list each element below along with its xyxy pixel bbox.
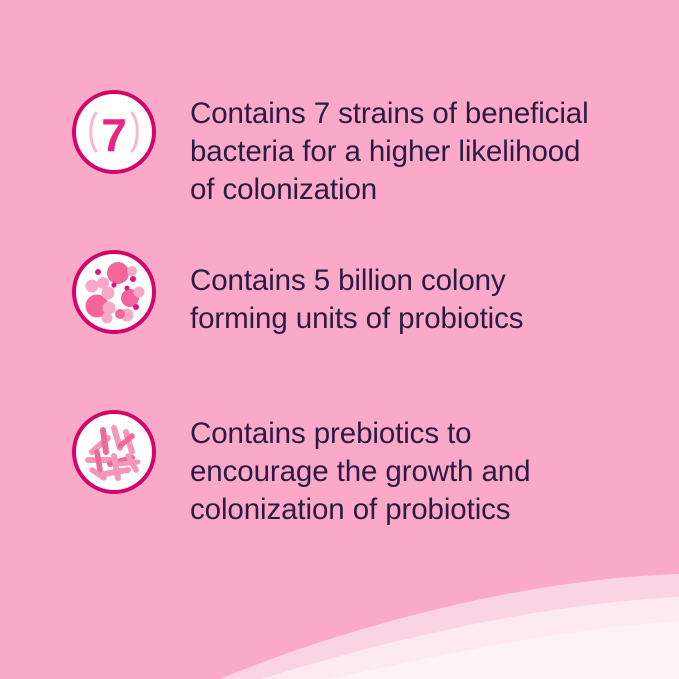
colony-forming-units-icon <box>70 248 158 336</box>
probiotic-benefits-infographic: 7 Contains 7 strains of beneficial bacte… <box>0 0 679 679</box>
seven-strains-icon: 7 <box>70 88 158 176</box>
feature-text-prebiotics: Contains prebiotics to encourage the gro… <box>190 408 530 529</box>
feature-item-strains: 7 Contains 7 strains of beneficial bacte… <box>70 88 589 209</box>
feature-list: 7 Contains 7 strains of beneficial bacte… <box>0 0 679 679</box>
feature-text-cfu: Contains 5 billion colony forming units … <box>190 248 523 338</box>
feature-item-cfu: Contains 5 billion colony forming units … <box>70 248 523 338</box>
prebiotic-bacteria-rods-icon <box>70 408 158 496</box>
seven-strains-number: 7 <box>101 109 127 161</box>
feature-item-prebiotics: Contains prebiotics to encourage the gro… <box>70 408 530 529</box>
feature-text-strains: Contains 7 strains of beneficial bacteri… <box>190 88 589 209</box>
